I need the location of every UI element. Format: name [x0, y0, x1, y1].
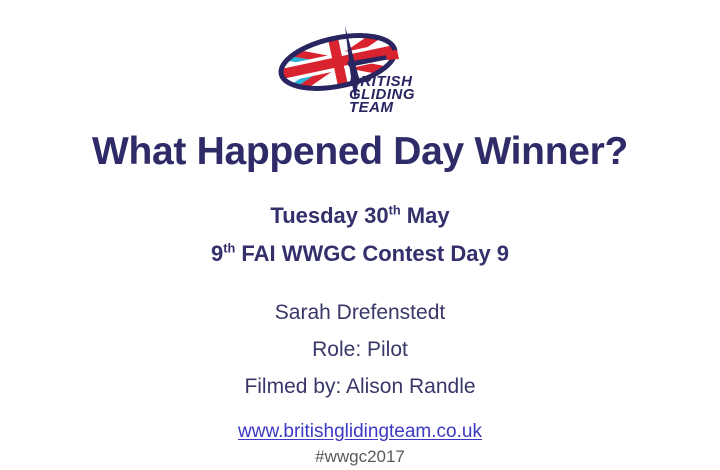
- subtitle-date: Tuesday 30th May: [0, 203, 720, 229]
- british-gliding-team-logo: BRITISH GLIDING TEAM: [275, 18, 445, 114]
- subtitle-event-suffix: FAI WWGC Contest Day 9: [235, 241, 509, 266]
- website-url-link[interactable]: www.britishglidingteam.co.uk: [238, 421, 482, 442]
- pilot-role: Role: Pilot: [0, 338, 720, 362]
- subtitle-event-prefix: 9: [211, 241, 223, 266]
- event-hashtag: #wwgc2017: [0, 447, 720, 467]
- logo-wordmark-line3: TEAM: [349, 99, 394, 114]
- logo-wordmark: BRITISH GLIDING TEAM: [349, 73, 415, 114]
- subtitle-date-ordinal: th: [389, 203, 401, 218]
- website-url-line: www.britishglidingteam.co.uk: [0, 421, 720, 443]
- subtitle-date-prefix: Tuesday 30: [270, 203, 388, 228]
- pilot-name: Sarah Drefenstedt: [0, 301, 720, 325]
- presentation-title-slide: BRITISH GLIDING TEAM What Happened Day W…: [0, 0, 720, 470]
- subtitle-event-ordinal: th: [223, 241, 235, 256]
- subtitle-date-suffix: May: [401, 203, 450, 228]
- page-title: What Happened Day Winner?: [0, 131, 720, 173]
- logo-graphic: BRITISH GLIDING TEAM: [275, 18, 445, 114]
- subtitle-event: 9th FAI WWGC Contest Day 9: [0, 241, 720, 267]
- filmed-by-credit: Filmed by: Alison Randle: [0, 375, 720, 399]
